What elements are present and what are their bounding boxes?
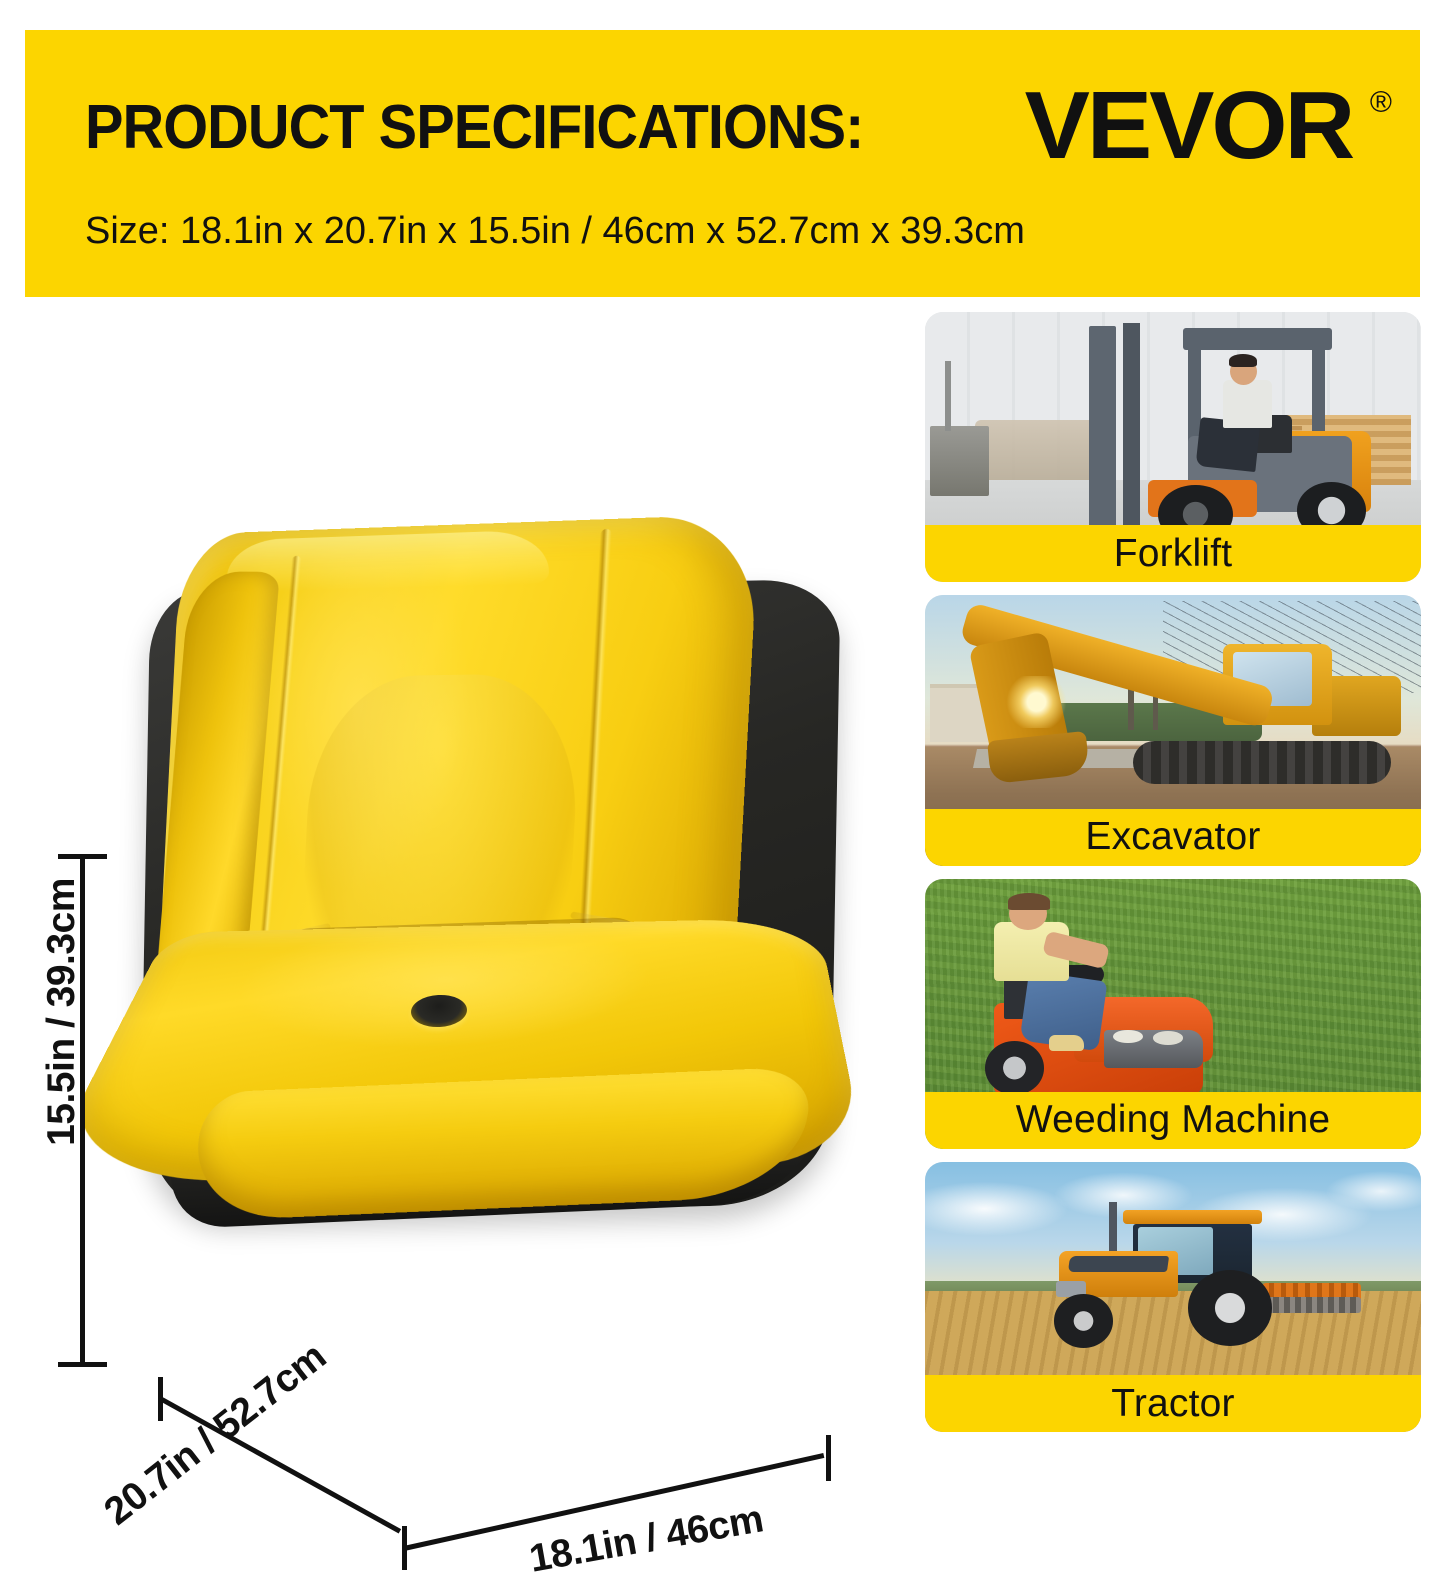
height-dimension-label: 15.5in / 39.3cm — [40, 862, 84, 1162]
use-case-card-tractor[interactable]: Tractor — [925, 1162, 1421, 1432]
use-case-label-forklift: Forklift — [925, 525, 1421, 582]
height-dimension-cap-bottom — [58, 1362, 107, 1367]
width-dimension-cap-left — [402, 1526, 407, 1570]
use-case-card-excavator[interactable]: Excavator — [925, 595, 1421, 865]
product-illustration-area: 15.5in / 39.3cm 20.7in / 52.7cm 18.1in /… — [0, 300, 900, 1445]
registered-trademark-icon: ® — [1370, 88, 1392, 118]
depth-dimension-label: 20.7in / 52.7cm — [96, 1335, 334, 1535]
use-case-card-weeding-machine[interactable]: Weeding Machine — [925, 879, 1421, 1149]
depth-dimension-cap — [158, 1377, 163, 1421]
use-case-card-list: Forklift Excavator Weeding Machine — [925, 312, 1421, 1432]
use-case-label-tractor: Tractor — [925, 1375, 1421, 1432]
width-dimension-cap-right — [826, 1435, 831, 1481]
size-specification-text: Size: 18.1in x 20.7in x 15.5in / 46cm x … — [85, 210, 1025, 253]
tractor-seat-image — [115, 525, 860, 1230]
page-title: PRODUCT SPECIFICATIONS: — [85, 92, 863, 163]
use-case-card-forklift[interactable]: Forklift — [925, 312, 1421, 582]
use-case-label-excavator: Excavator — [925, 809, 1421, 866]
vevor-brand-logo: VEVOR — [1024, 78, 1352, 174]
header-banner: PRODUCT SPECIFICATIONS: VEVOR ® Size: 18… — [25, 30, 1420, 297]
height-dimension-cap-top — [58, 854, 107, 859]
use-case-label-weeding-machine: Weeding Machine — [925, 1092, 1421, 1149]
